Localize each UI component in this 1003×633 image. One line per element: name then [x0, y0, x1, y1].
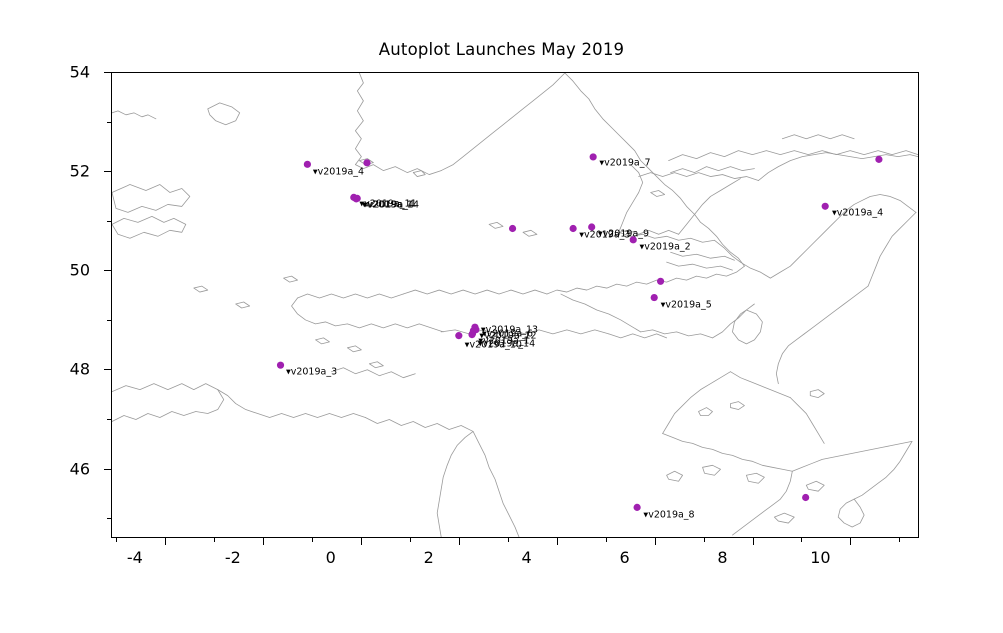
point-label: ▾v2019a_3: [286, 368, 337, 378]
point-label: ▾v2019a_7: [599, 159, 650, 169]
point-label: ▾v2019a_9: [598, 229, 649, 239]
point-label: ▾v2019a_4: [363, 200, 414, 210]
x-tick-label: 2: [399, 548, 459, 567]
x-tick-major: [850, 538, 851, 545]
point-label: ▾v2019a_2: [640, 242, 691, 252]
x-tick-minor: [410, 538, 411, 542]
x-tick-minor: [214, 538, 215, 542]
x-tick-minor: [899, 538, 900, 542]
x-tick-minor: [606, 538, 607, 542]
point-label: ▾v2019a_5: [661, 300, 712, 310]
point-label: ▾v2019a_4: [313, 167, 364, 177]
y-tick-label: 54: [30, 63, 99, 82]
x-tick-minor: [801, 538, 802, 542]
y-tick-major: [104, 171, 111, 172]
y-tick-minor: [107, 221, 111, 222]
x-tick-label: 8: [693, 548, 753, 567]
y-tick-label: 52: [30, 162, 99, 181]
x-tick-minor: [508, 538, 509, 542]
y-tick-minor: [107, 122, 111, 123]
y-tick-label: 50: [30, 261, 99, 280]
y-tick-label: 46: [30, 459, 99, 478]
y-tick-major: [104, 369, 111, 370]
y-tick-minor: [107, 320, 111, 321]
x-tick-label: 0: [301, 548, 361, 567]
y-tick-minor: [107, 518, 111, 519]
figure-canvas: Autoplot Launches May 2019: [0, 0, 1003, 633]
x-tick-label: -4: [105, 548, 165, 567]
x-tick-minor: [704, 538, 705, 542]
x-tick-major: [459, 538, 460, 545]
y-tick-minor: [107, 419, 111, 420]
x-tick-major: [557, 538, 558, 545]
x-tick-major: [361, 538, 362, 545]
map-plot-area[interactable]: ▾v2019a_4▾v2019a_11▾v2019a_14▾v2019a_4▾v…: [111, 72, 919, 538]
y-tick-major: [104, 270, 111, 271]
x-tick-label: 6: [595, 548, 655, 567]
y-tick-major: [104, 72, 111, 73]
y-tick-major: [104, 469, 111, 470]
x-tick-major: [165, 538, 166, 545]
x-tick-label: -2: [203, 548, 263, 567]
x-tick-minor: [312, 538, 313, 542]
x-tick-label: 10: [790, 548, 850, 567]
point-label: ▾v2019a_14: [478, 339, 535, 349]
page-title: Autoplot Launches May 2019: [0, 40, 1003, 59]
y-tick-label: 48: [30, 360, 99, 379]
point-label-layer: ▾v2019a_4▾v2019a_11▾v2019a_14▾v2019a_4▾v…: [112, 73, 918, 537]
x-tick-major: [753, 538, 754, 545]
x-tick-minor: [116, 538, 117, 542]
x-tick-label: 4: [497, 548, 557, 567]
point-label: ▾v2019a_4: [832, 208, 883, 218]
x-tick-major: [263, 538, 264, 545]
x-tick-major: [655, 538, 656, 545]
point-label: ▾v2019a_8: [643, 511, 694, 521]
